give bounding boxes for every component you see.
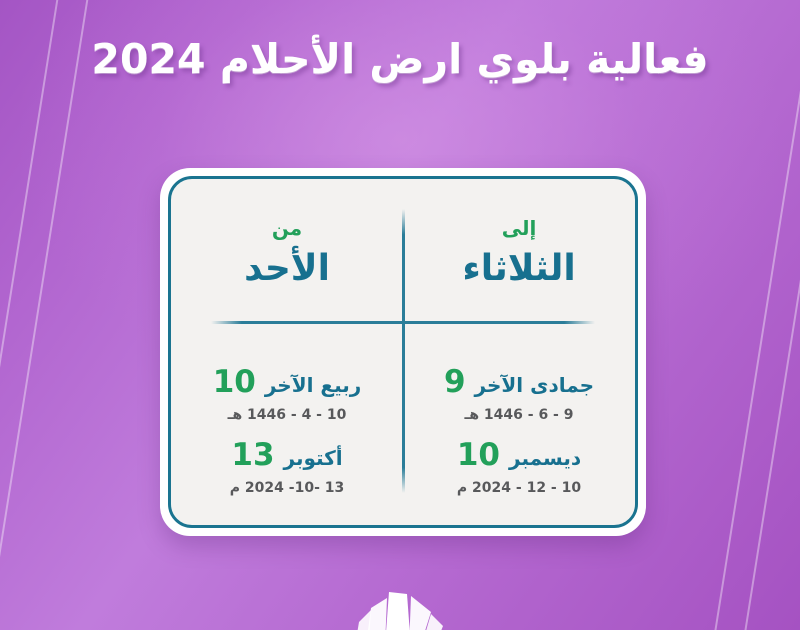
hijri-day-to: 9 bbox=[444, 367, 466, 398]
gregorian-date-from: 13 أكتوبر 13 -10- 2024 م bbox=[230, 440, 344, 496]
gregorian-month-to: ديسمبر bbox=[509, 448, 581, 468]
stripe-line bbox=[697, 0, 800, 630]
column-label-to: إلى bbox=[502, 216, 537, 240]
diagonal-stripe-right bbox=[651, 0, 800, 630]
stripe-line bbox=[0, 0, 101, 630]
gregorian-date-line-to: 10 ديسمبر bbox=[457, 440, 581, 471]
hijri-date-line-to: 9 جمادى الآخر bbox=[444, 367, 594, 398]
crown-logo-fragment bbox=[345, 588, 455, 630]
column-header-from: من الأحد bbox=[171, 179, 403, 325]
date-grid: إلى الثلاثاء من الأحد 9 جمادى الآخر 9 bbox=[171, 179, 635, 525]
hijri-date-from: 10 ربيع الآخر 10 - 4 - 1446 هـ bbox=[213, 367, 362, 423]
gregorian-full-to: 10 - 12 - 2024 م bbox=[457, 480, 581, 496]
poster-canvas: فعالية بلوي ارض الأحلام 2024 إلى الثلاثا… bbox=[0, 0, 800, 630]
column-header-to: إلى الثلاثاء bbox=[403, 179, 635, 325]
page-title: فعالية بلوي ارض الأحلام 2024 bbox=[0, 36, 800, 83]
column-dates-to: 9 جمادى الآخر 9 - 6 - 1446 هـ 10 ديسمبر … bbox=[403, 325, 635, 525]
stripe-line bbox=[0, 0, 71, 630]
gregorian-day-to: 10 bbox=[457, 440, 500, 471]
day-name-to: الثلاثاء bbox=[462, 250, 575, 288]
gregorian-date-line-from: 13 أكتوبر bbox=[231, 440, 342, 471]
stripe-line bbox=[727, 0, 800, 630]
gregorian-month-from: أكتوبر bbox=[284, 448, 343, 468]
gregorian-full-from: 13 -10- 2024 م bbox=[230, 480, 344, 496]
hijri-full-from: 10 - 4 - 1446 هـ bbox=[228, 407, 347, 423]
hijri-day-from: 10 bbox=[213, 367, 256, 398]
day-name-from: الأحد bbox=[244, 250, 330, 288]
hijri-full-to: 9 - 6 - 1446 هـ bbox=[465, 407, 574, 423]
column-label-from: من bbox=[272, 216, 302, 240]
hijri-month-from: ربيع الآخر bbox=[265, 375, 361, 395]
hijri-month-to: جمادى الآخر bbox=[475, 375, 595, 395]
gregorian-day-from: 13 bbox=[231, 440, 274, 471]
event-date-card: إلى الثلاثاء من الأحد 9 جمادى الآخر 9 bbox=[160, 168, 646, 536]
event-date-card-inner: إلى الثلاثاء من الأحد 9 جمادى الآخر 9 bbox=[168, 176, 638, 528]
column-dates-from: 10 ربيع الآخر 10 - 4 - 1446 هـ 13 أكتوبر… bbox=[171, 325, 403, 525]
gregorian-date-to: 10 ديسمبر 10 - 12 - 2024 م bbox=[457, 440, 581, 496]
hijri-date-to: 9 جمادى الآخر 9 - 6 - 1446 هـ bbox=[444, 367, 594, 423]
diagonal-stripe-left bbox=[0, 0, 149, 630]
hijri-date-line-from: 10 ربيع الآخر bbox=[213, 367, 362, 398]
